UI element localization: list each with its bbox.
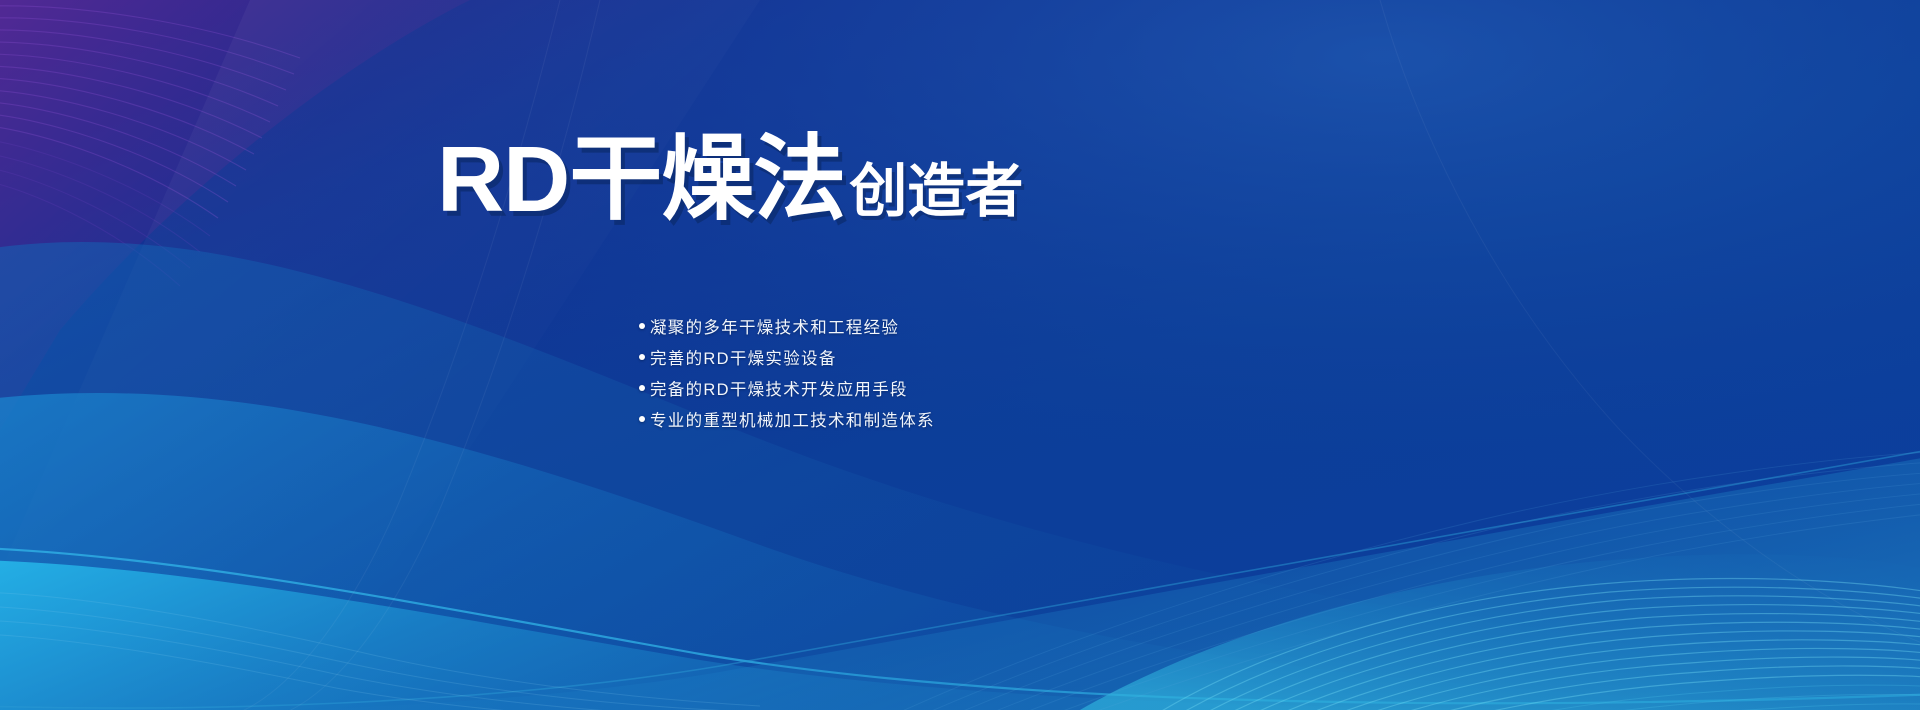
bullet-dot-icon bbox=[639, 323, 645, 329]
hero-banner: RD干燥法创造者 凝聚的多年干燥技术和工程经验 完善的RD干燥实验设备 完备的R… bbox=[0, 0, 1920, 710]
list-item: 完善的RD干燥实验设备 bbox=[639, 342, 935, 372]
bullet-dot-icon bbox=[639, 354, 645, 360]
banner-content: RD干燥法创造者 凝聚的多年干燥技术和工程经验 完善的RD干燥实验设备 完备的R… bbox=[0, 0, 1920, 710]
headline-main-text: RD干燥法 bbox=[437, 127, 845, 231]
headline-suffix-text: 创造者 bbox=[849, 159, 1023, 224]
list-item-label: 完备的RD干燥技术开发应用手段 bbox=[650, 376, 908, 400]
feature-bullet-list: 凝聚的多年干燥技术和工程经验 完善的RD干燥实验设备 完备的RD干燥技术开发应用… bbox=[639, 311, 935, 435]
list-item-label: 完善的RD干燥实验设备 bbox=[650, 345, 837, 369]
list-item-label: 凝聚的多年干燥技术和工程经验 bbox=[650, 314, 899, 338]
list-item: 凝聚的多年干燥技术和工程经验 bbox=[639, 311, 935, 341]
list-item: 完备的RD干燥技术开发应用手段 bbox=[639, 373, 935, 403]
list-item-label: 专业的重型机械加工技术和制造体系 bbox=[650, 407, 935, 431]
bullet-dot-icon bbox=[639, 385, 645, 391]
page-title: RD干燥法创造者 bbox=[0, 133, 1920, 226]
list-item: 专业的重型机械加工技术和制造体系 bbox=[639, 404, 935, 434]
bullet-dot-icon bbox=[639, 416, 645, 422]
